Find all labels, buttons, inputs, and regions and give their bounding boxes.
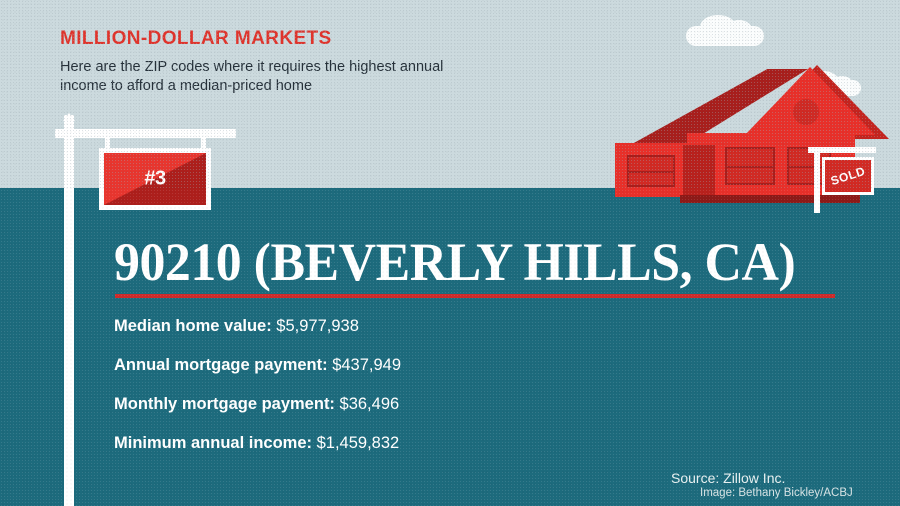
house-door — [683, 145, 715, 197]
stat-row: Annual mortgage payment: $437,949 — [114, 355, 401, 375]
stat-value: $1,459,832 — [317, 434, 400, 452]
sold-sign: SOLD — [800, 143, 880, 213]
rank-badge-face: #3 — [104, 153, 206, 205]
stats-list: Median home value: $5,977,938 Annual mor… — [114, 316, 401, 472]
stat-label: Monthly mortgage payment: — [114, 395, 335, 413]
house-window — [725, 147, 775, 185]
stat-row: Monthly mortgage payment: $36,496 — [114, 394, 401, 414]
page-title: 90210 (BEVERLY HILLS, CA) — [114, 234, 795, 290]
house-illustration: SOLD — [615, 55, 875, 205]
cloud-icon — [686, 26, 764, 46]
stat-label: Minimum annual income: — [114, 434, 312, 452]
yard-sign-post — [64, 115, 74, 506]
stat-row: Minimum annual income: $1,459,832 — [114, 433, 401, 453]
rank-badge-sign: #3 — [99, 148, 211, 210]
stat-value: $5,977,938 — [276, 317, 359, 335]
rank-badge-number: #3 — [104, 168, 206, 191]
sold-sign-face: SOLD — [822, 157, 874, 195]
sold-sign-label: SOLD — [824, 162, 872, 190]
yard-sign-crossbar — [55, 129, 236, 138]
stat-row: Median home value: $5,977,938 — [114, 316, 401, 336]
kicker-headline: MILLION-DOLLAR MARKETS — [60, 28, 332, 50]
stat-value: $36,496 — [340, 395, 400, 413]
stat-label: Median home value: — [114, 317, 272, 335]
infographic-canvas: SOLD #3 MILLION-DOLLAR MARKETS Here are … — [0, 0, 900, 506]
subheadline: Here are the ZIP codes where it requires… — [60, 58, 480, 96]
sold-sign-post — [814, 149, 820, 213]
image-credit: Image: Bethany Bickley/ACBJ — [700, 487, 853, 499]
title-underline-rule — [115, 294, 835, 298]
stat-label: Annual mortgage payment: — [114, 356, 328, 374]
stat-value: $437,949 — [332, 356, 401, 374]
source-attribution: Source: Zillow Inc. — [671, 470, 785, 486]
house-gable-vent-icon — [793, 99, 819, 125]
house-window — [627, 155, 675, 187]
